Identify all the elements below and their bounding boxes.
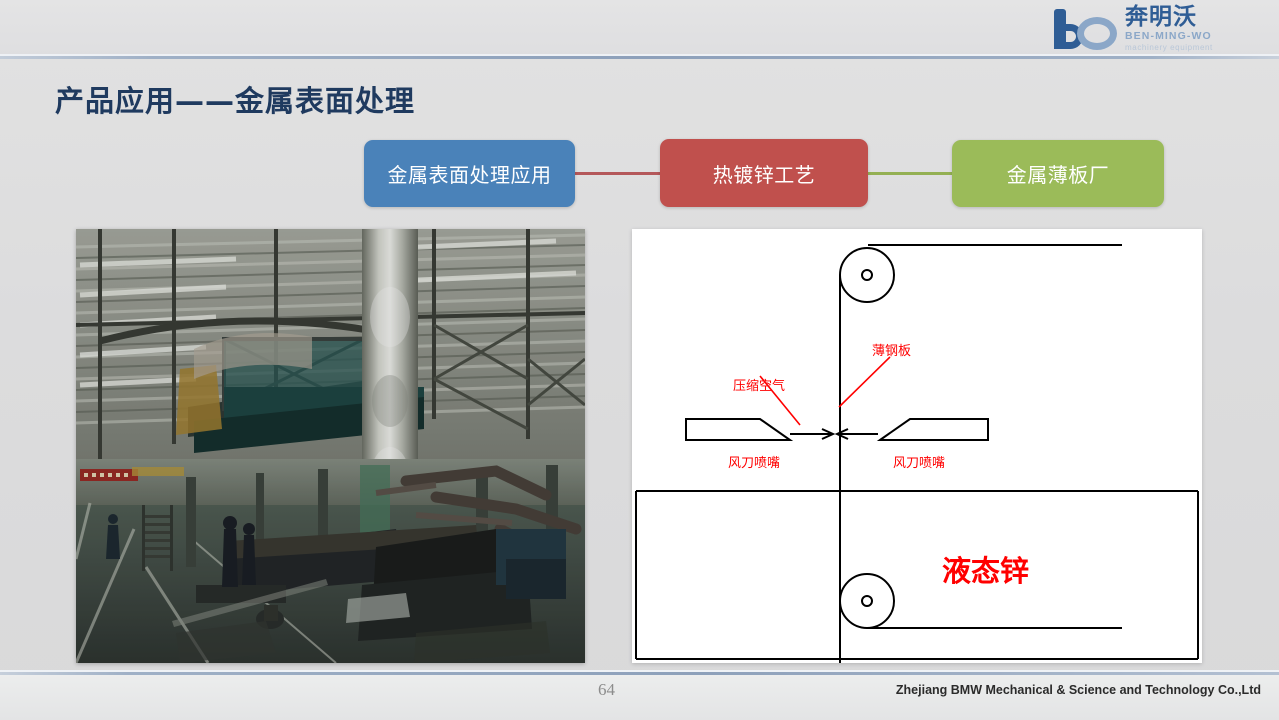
page-number: 64 — [598, 680, 615, 700]
label-compressed-air: 压缩空气 — [733, 375, 785, 394]
factory-photo-image — [76, 229, 585, 663]
flow-connector-1 — [575, 172, 661, 175]
label-liquid-zinc: 液态锌 — [942, 548, 1029, 590]
slide-footer — [0, 675, 1279, 720]
process-flow: 金属表面处理应用 热镀锌工艺 金属薄板厂 — [0, 0, 1279, 220]
label-nozzle-left: 风刀喷嘴 — [728, 452, 780, 471]
galvanizing-process-diagram — [632, 229, 1202, 663]
company-name-footer: Zhejiang BMW Mechanical & Science and Te… — [896, 683, 1261, 697]
flow-connector-2 — [868, 172, 953, 175]
label-nozzle-right: 风刀喷嘴 — [893, 452, 945, 471]
factory-photo — [76, 229, 585, 663]
label-steel-sheet: 薄钢板 — [872, 340, 911, 359]
galvanizing-diagram-drawing — [632, 229, 1202, 663]
flow-box-factory[interactable]: 金属薄板厂 — [952, 140, 1164, 207]
flow-box-process[interactable]: 热镀锌工艺 — [660, 139, 868, 207]
flow-box-application[interactable]: 金属表面处理应用 — [364, 140, 575, 207]
